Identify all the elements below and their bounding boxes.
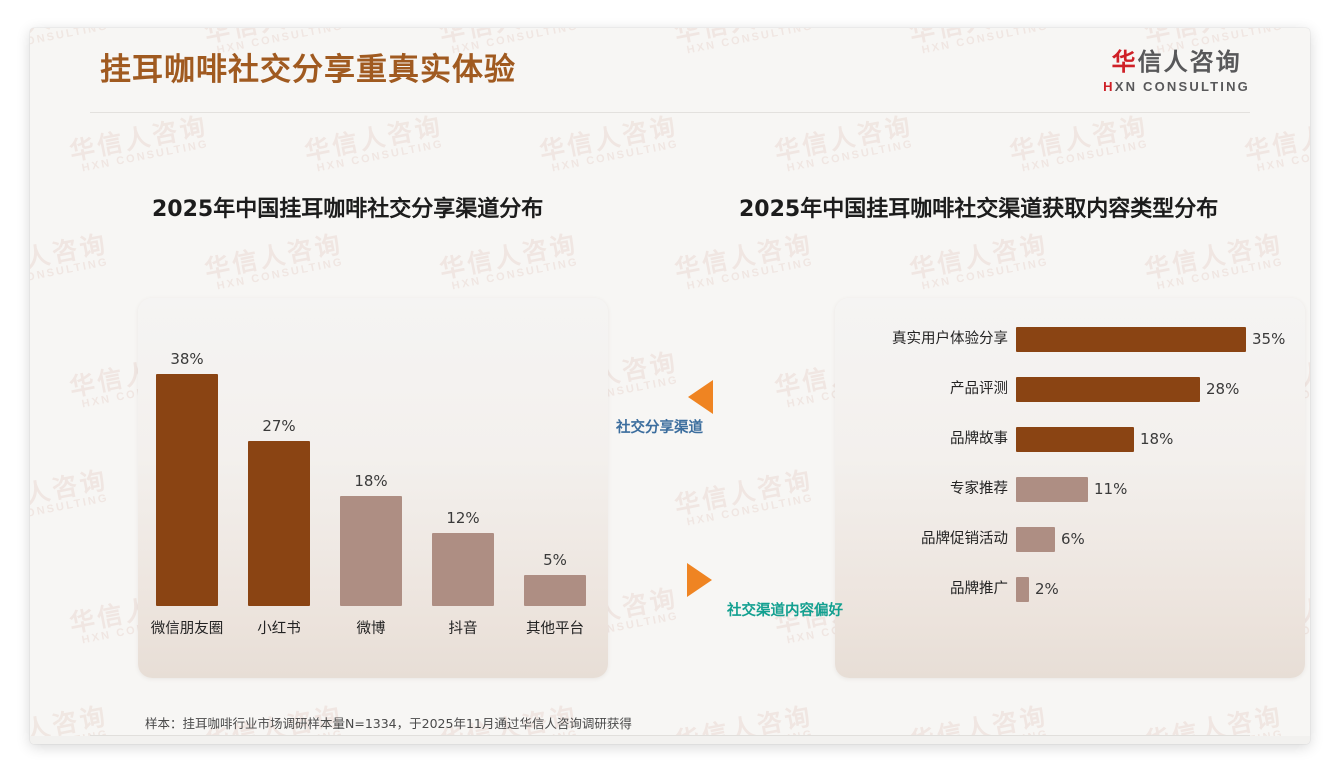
watermark-cn: 华信人咨询 bbox=[773, 113, 915, 165]
watermark-cn: 华信人咨询 bbox=[1243, 113, 1310, 165]
watermark-tile: 华信人咨询HXN CONSULTING bbox=[438, 231, 583, 295]
bar bbox=[156, 374, 218, 606]
bar-category-label: 产品评测 bbox=[835, 374, 1008, 404]
watermark-cn: 华信人咨询 bbox=[538, 113, 680, 165]
watermark-cn: 华信人咨询 bbox=[30, 231, 110, 283]
watermark-en: HXN CONSULTING bbox=[30, 257, 112, 294]
bar-value-label: 18% bbox=[354, 472, 387, 490]
bar-value-label: 28% bbox=[1206, 374, 1239, 404]
bar-value-label: 11% bbox=[1094, 474, 1127, 504]
watermark-tile: 华信人咨询HXN CONSULTING bbox=[30, 231, 112, 295]
bar-value-label: 27% bbox=[262, 417, 295, 435]
bar-column: 18%微博 bbox=[325, 298, 417, 678]
bar-value-label: 2% bbox=[1035, 574, 1059, 604]
bar bbox=[1016, 427, 1134, 452]
watermark-cn: 华信人咨询 bbox=[1008, 113, 1150, 165]
bar-row: 品牌促销活动6% bbox=[835, 524, 1305, 554]
watermark-tile: 华信人咨询HXN CONSULTING bbox=[1008, 113, 1153, 177]
bar-value-label: 12% bbox=[446, 509, 479, 527]
slide-canvas: 华信人咨询HXN CONSULTING华信人咨询HXN CONSULTING华信… bbox=[30, 28, 1310, 744]
watermark-tile: 华信人咨询HXN CONSULTING bbox=[773, 113, 918, 177]
watermark-cn: 华信人咨询 bbox=[203, 231, 345, 283]
logo-en-text: HXN CONSULTING bbox=[1103, 79, 1250, 94]
bar bbox=[340, 496, 402, 606]
header-divider bbox=[90, 112, 1250, 113]
watermark-en: HXN CONSULTING bbox=[1154, 257, 1288, 294]
watermark-en: HXN CONSULTING bbox=[1019, 139, 1153, 176]
bar-category-label: 其他平台 bbox=[526, 617, 584, 638]
slide-header: 挂耳咖啡社交分享重真实体验 华信人咨询 HXN CONSULTING bbox=[30, 28, 1310, 108]
watermark-tile: 华信人咨询HXN CONSULTING bbox=[68, 113, 213, 177]
vertical-bar-chart: 38%微信朋友圈27%小红书18%微博12%抖音5%其他平台 bbox=[138, 298, 608, 678]
logo-en-red: H bbox=[1103, 79, 1115, 94]
watermark-tile: 华信人咨询HXN CONSULTING bbox=[203, 231, 348, 295]
watermark-en: HXN CONSULTING bbox=[684, 493, 818, 530]
watermark-tile: 华信人咨询HXN CONSULTING bbox=[1143, 231, 1288, 295]
bar bbox=[524, 575, 586, 606]
bar-category-label: 真实用户体验分享 bbox=[835, 324, 1008, 354]
watermark-tile: 华信人咨询HXN CONSULTING bbox=[30, 467, 112, 531]
bar-row: 专家推荐11% bbox=[835, 474, 1305, 504]
company-logo: 华信人咨询 HXN CONSULTING bbox=[1103, 42, 1250, 94]
bar bbox=[1016, 377, 1200, 402]
bar-value-label: 35% bbox=[1252, 324, 1285, 354]
watermark-en: HXN CONSULTING bbox=[214, 257, 348, 294]
watermark-tile: 华信人咨询HXN CONSULTING bbox=[673, 231, 818, 295]
watermark-cn: 华信人咨询 bbox=[438, 231, 580, 283]
bar-category-label: 专家推荐 bbox=[835, 474, 1008, 504]
watermark-tile: 华信人咨询HXN CONSULTING bbox=[908, 231, 1053, 295]
bar-value-label: 18% bbox=[1140, 424, 1173, 454]
bar bbox=[248, 441, 310, 606]
bar-row: 品牌推广2% bbox=[835, 574, 1305, 604]
logo-en-rest: XN CONSULTING bbox=[1115, 79, 1250, 94]
bar bbox=[1016, 527, 1055, 552]
watermark-cn: 华信人咨询 bbox=[1143, 231, 1285, 283]
watermark-en: HXN CONSULTING bbox=[314, 139, 448, 176]
watermark-en: HXN CONSULTING bbox=[919, 257, 1053, 294]
triangle-right-icon bbox=[687, 563, 712, 597]
triangle-left-icon bbox=[688, 380, 713, 414]
watermark-tile: 华信人咨询HXN CONSULTING bbox=[673, 467, 818, 531]
watermark-tile: 华信人咨询HXN CONSULTING bbox=[1243, 113, 1310, 177]
bar-category-label: 微博 bbox=[357, 617, 386, 638]
watermark-en: HXN CONSULTING bbox=[549, 139, 683, 176]
bar-category-label: 品牌促销活动 bbox=[835, 524, 1008, 554]
bar bbox=[1016, 477, 1088, 502]
watermark-tile: 华信人咨询HXN CONSULTING bbox=[303, 113, 448, 177]
watermark-cn: 华信人咨询 bbox=[68, 113, 210, 165]
bar-category-label: 品牌故事 bbox=[835, 424, 1008, 454]
watermark-cn: 华信人咨询 bbox=[908, 231, 1050, 283]
chart-card-right: 真实用户体验分享35%产品评测28%品牌故事18%专家推荐11%品牌促销活动6%… bbox=[835, 298, 1305, 678]
bar-column: 12%抖音 bbox=[417, 298, 509, 678]
horizontal-bar-chart: 真实用户体验分享35%产品评测28%品牌故事18%专家推荐11%品牌促销活动6%… bbox=[835, 298, 1305, 678]
watermark-tile: 华信人咨询HXN CONSULTING bbox=[538, 113, 683, 177]
page-title: 挂耳咖啡社交分享重真实体验 bbox=[100, 44, 516, 89]
bar-value-label: 38% bbox=[170, 350, 203, 368]
bar-value-label: 5% bbox=[543, 551, 567, 569]
watermark-en: HXN CONSULTING bbox=[449, 257, 583, 294]
bar-category-label: 抖音 bbox=[449, 617, 478, 638]
chart-title-left: 2025年中国挂耳咖啡社交分享渠道分布 bbox=[152, 191, 543, 223]
watermark-en: HXN CONSULTING bbox=[684, 257, 818, 294]
watermark-cn: 华信人咨询 bbox=[673, 231, 815, 283]
watermark-en: HXN CONSULTING bbox=[1254, 139, 1310, 176]
annotation-label: 社交渠道内容偏好 bbox=[727, 599, 843, 620]
watermark-en: HXN CONSULTING bbox=[784, 139, 918, 176]
chart-title-right: 2025年中国挂耳咖啡社交渠道获取内容类型分布 bbox=[739, 191, 1218, 223]
bar bbox=[432, 533, 494, 606]
bar-column: 5%其他平台 bbox=[509, 298, 601, 678]
bar-category-label: 品牌推广 bbox=[835, 574, 1008, 604]
bar-column: 38%微信朋友圈 bbox=[141, 298, 233, 678]
logo-cn-rest: 信人咨询 bbox=[1138, 48, 1242, 76]
bar-row: 产品评测28% bbox=[835, 374, 1305, 404]
bar-row: 品牌故事18% bbox=[835, 424, 1305, 454]
watermark-en: HXN CONSULTING bbox=[79, 139, 213, 176]
watermark-cn: 华信人咨询 bbox=[30, 467, 110, 519]
bar-row: 真实用户体验分享35% bbox=[835, 324, 1305, 354]
bar bbox=[1016, 577, 1029, 602]
sample-note: 样本：挂耳咖啡行业市场调研样本量N=1334，于2025年11月通过华信人咨询调… bbox=[145, 713, 632, 732]
bar-value-label: 6% bbox=[1061, 524, 1085, 554]
logo-cn-text: 华信人咨询 bbox=[1103, 42, 1250, 77]
slide-footer: ©2026.1 HXR华信人咨询 www.hxrcon.com bbox=[30, 736, 1310, 744]
logo-cn-red: 华 bbox=[1112, 48, 1138, 76]
annotation-label: 社交分享渠道 bbox=[616, 416, 703, 437]
bar-column: 27%小红书 bbox=[233, 298, 325, 678]
watermark-cn: 华信人咨询 bbox=[673, 467, 815, 519]
bar bbox=[1016, 327, 1246, 352]
chart-card-left: 38%微信朋友圈27%小红书18%微博12%抖音5%其他平台 bbox=[138, 298, 608, 678]
bar-category-label: 小红书 bbox=[257, 617, 301, 638]
bar-category-label: 微信朋友圈 bbox=[151, 617, 224, 638]
watermark-en: HXN CONSULTING bbox=[30, 493, 112, 530]
watermark-cn: 华信人咨询 bbox=[303, 113, 445, 165]
